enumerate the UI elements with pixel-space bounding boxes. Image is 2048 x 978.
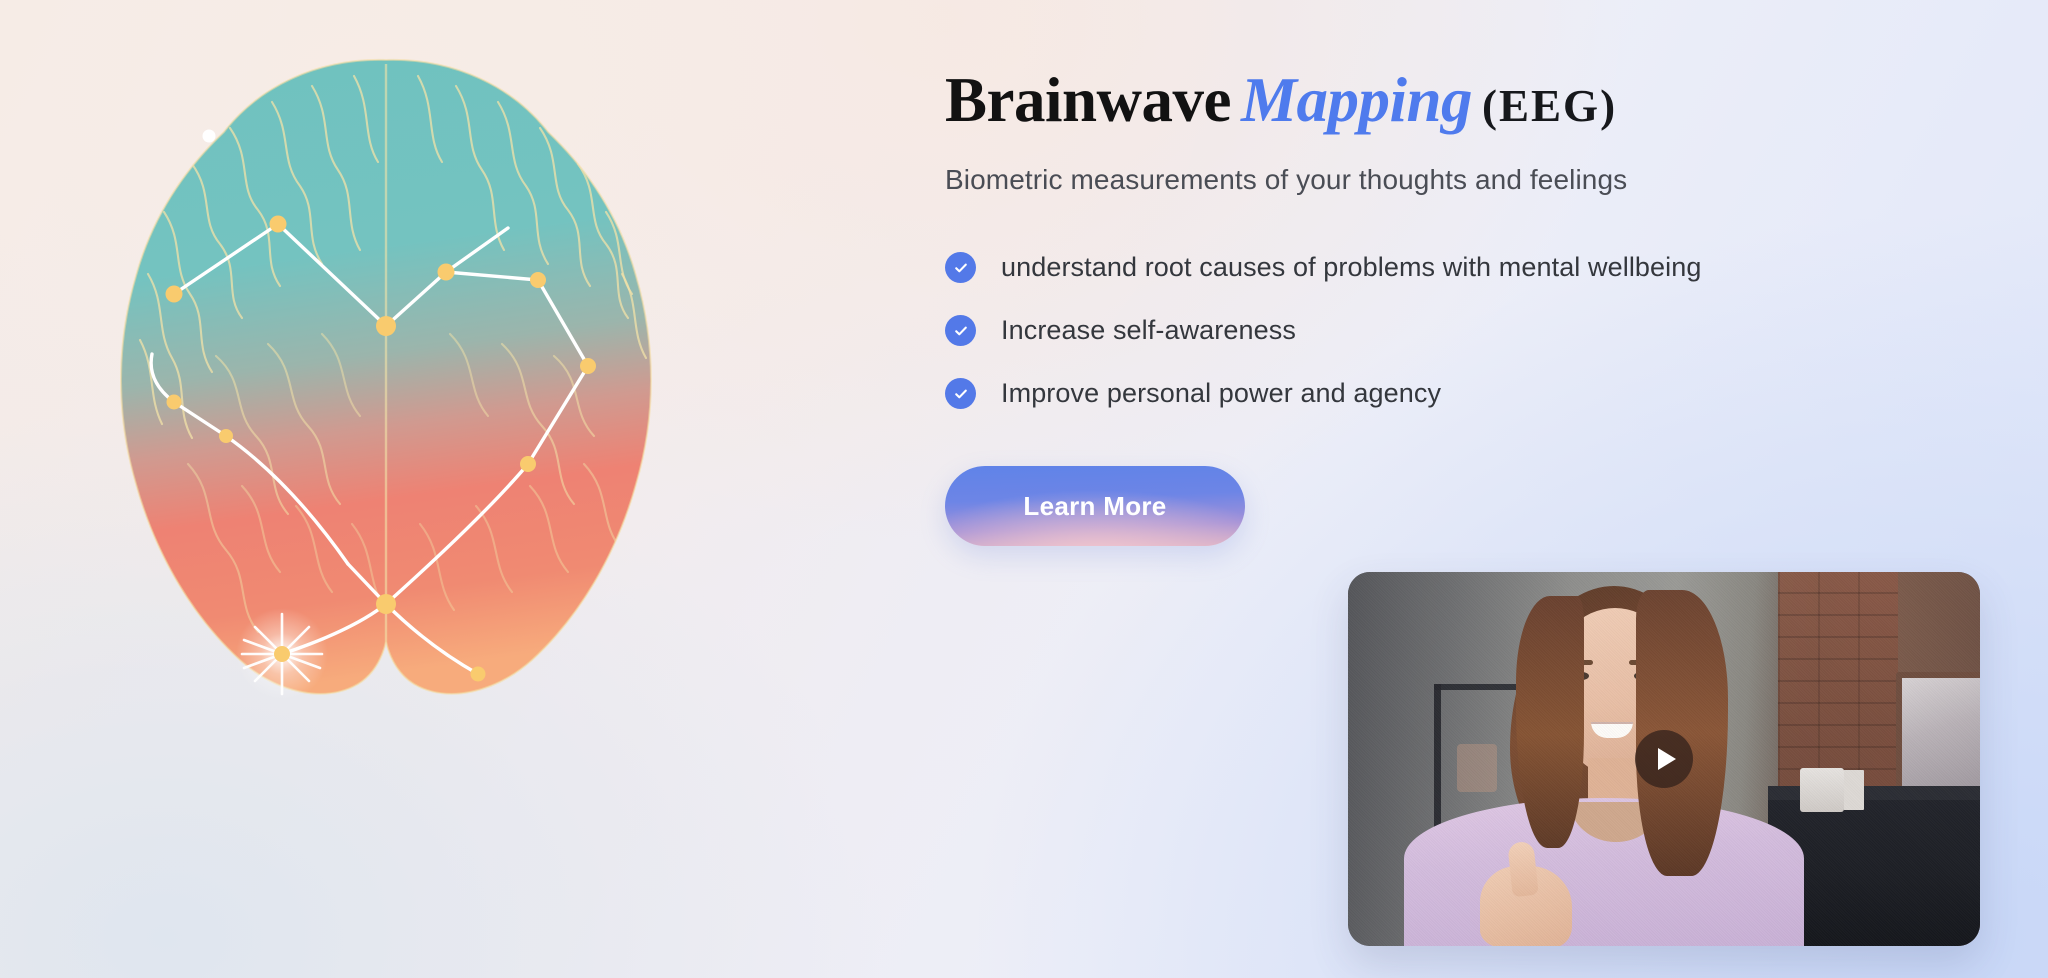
eeg-node [471, 667, 486, 682]
eeg-node [270, 216, 287, 233]
list-item: Increase self-awareness [945, 299, 1975, 362]
hero-content: BrainwaveMapping(EEG) Biometric measurem… [945, 66, 1975, 546]
list-item-label: understand root causes of problems with … [1001, 252, 1701, 283]
eeg-node [167, 395, 182, 410]
eeg-node [219, 429, 233, 443]
scene-mirror [1896, 672, 1980, 804]
check-circle-icon [945, 252, 976, 283]
headline-accent: Mapping [1231, 65, 1476, 135]
play-button[interactable] [1635, 730, 1693, 788]
eeg-node [438, 264, 455, 281]
play-triangle-icon [1658, 748, 1676, 770]
check-circle-icon [945, 378, 976, 409]
eeg-node [580, 358, 596, 374]
eeg-node-highlight [203, 130, 216, 143]
headline-primary: Brainwave [945, 65, 1231, 135]
headline-tail: (EEG) [1476, 81, 1617, 131]
brain-illustration [96, 44, 676, 704]
sparkle-icon [236, 608, 328, 700]
eeg-node [520, 456, 536, 472]
hero-section: BrainwaveMapping(EEG) Biometric measurem… [0, 0, 2048, 978]
page-subtitle: Biometric measurements of your thoughts … [945, 164, 1975, 196]
eeg-node [166, 286, 183, 303]
learn-more-button[interactable]: Learn More [945, 466, 1245, 546]
benefits-list: understand root causes of problems with … [945, 236, 1975, 425]
check-circle-icon [945, 315, 976, 346]
person-thumbs-up-hand [1480, 866, 1572, 946]
list-item: Improve personal power and agency [945, 362, 1975, 425]
eeg-node [376, 594, 396, 614]
list-item-label: Increase self-awareness [1001, 315, 1296, 346]
list-item-label: Improve personal power and agency [1001, 378, 1441, 409]
video-thumbnail-card[interactable] [1348, 572, 1980, 946]
list-item: understand root causes of problems with … [945, 236, 1975, 299]
person-hair-left [1516, 596, 1584, 848]
eeg-node [530, 272, 546, 288]
page-title: BrainwaveMapping(EEG) [945, 66, 1975, 134]
scene-candles [1800, 768, 1844, 812]
eeg-node [376, 316, 396, 336]
